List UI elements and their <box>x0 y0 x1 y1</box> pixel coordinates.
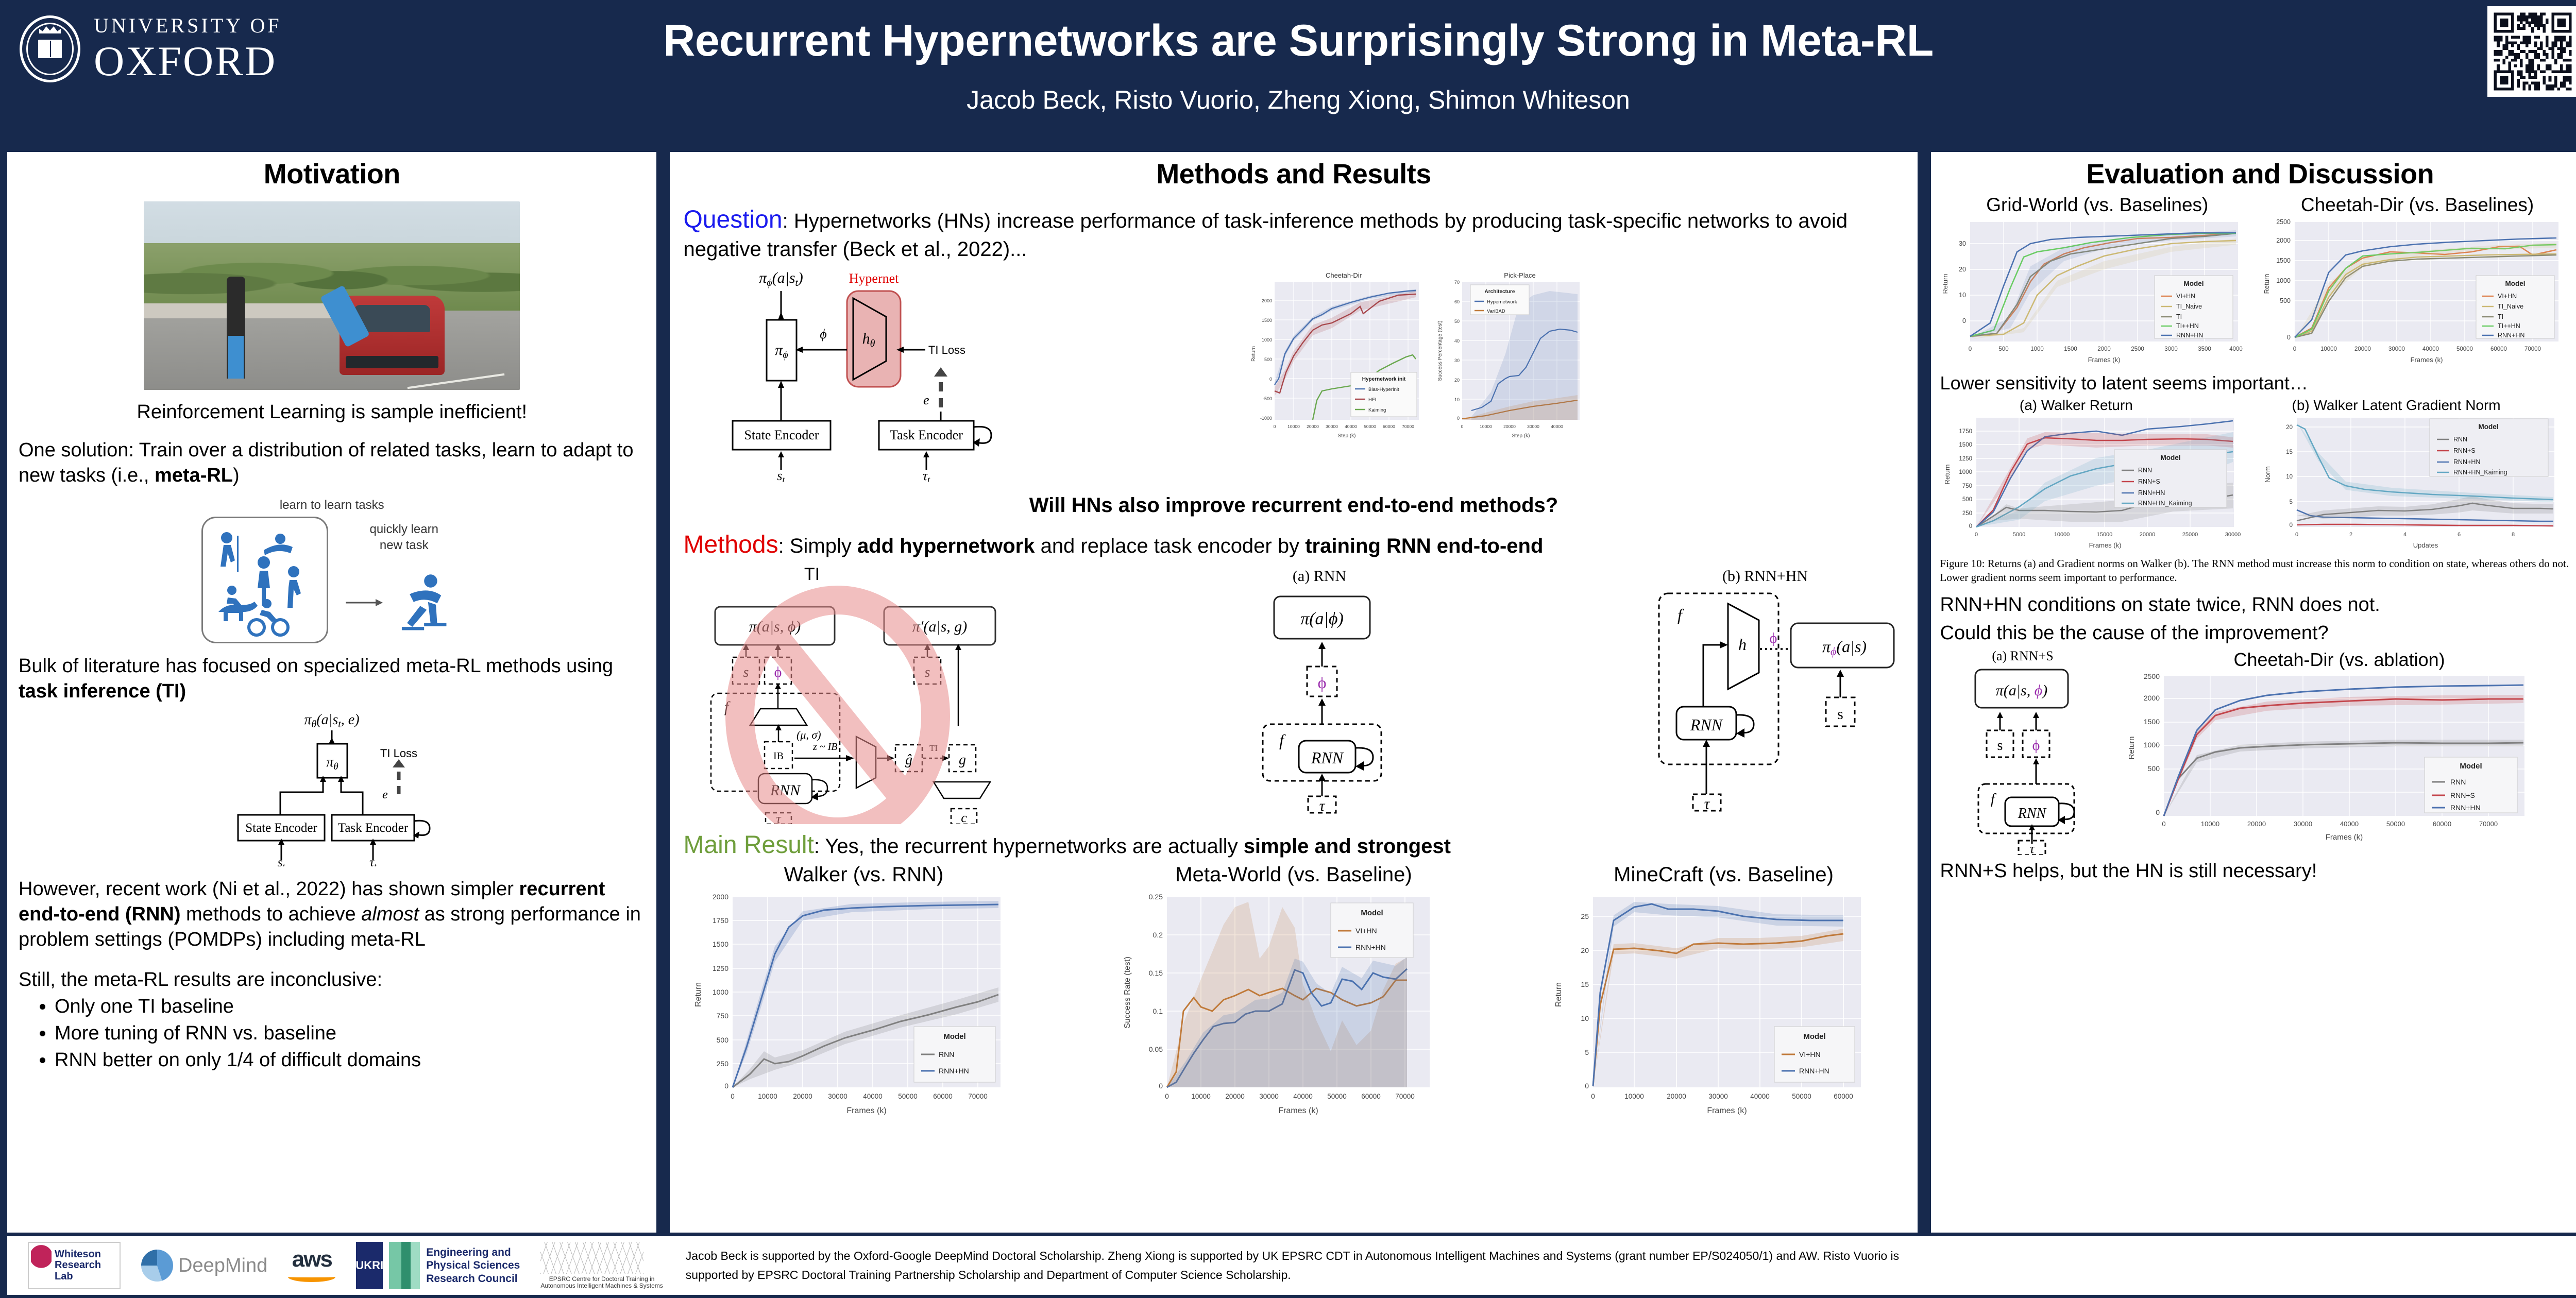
xtick: 30000 <box>1708 1092 1728 1100</box>
xtick: 50000 <box>1364 424 1377 429</box>
eval-chart-titles: Grid-World (vs. Baselines) Cheetah-Dir (… <box>1940 194 2576 216</box>
ti-architecture-diagram: πθ(a|st, e) πθ TI Loss e <box>167 712 497 866</box>
ytick: 0 <box>1159 1082 1163 1090</box>
chart-cheetah-dir-hyperinit: Cheetah-Dir <box>1245 269 1595 450</box>
para2-part-a: Bulk of literature has focused on specia… <box>19 655 613 677</box>
ytick: 250 <box>717 1060 729 1068</box>
aws-smile-icon <box>288 1272 335 1282</box>
hypernet-label: Hypernet <box>849 271 900 286</box>
chart-title: Meta-World (vs. Baseline) <box>1113 863 1474 886</box>
epsrc-l2: Physical Sciences <box>426 1259 520 1272</box>
ytick: 10 <box>1454 397 1460 402</box>
ytick: 0 <box>1962 317 1966 324</box>
evaluation-title: Evaluation and Discussion <box>1931 152 2576 190</box>
ukri-bars-icon <box>389 1242 420 1289</box>
chart-legend: Model RNN RNN+HN <box>914 1027 995 1082</box>
ytick: 500 <box>2147 764 2160 773</box>
ylabel: Success Percentage (test) <box>1437 321 1443 381</box>
discussion-line-2: Could this be the cause of the improveme… <box>1940 621 2576 646</box>
ytick: 1000 <box>1262 337 1272 343</box>
ytick: 20 <box>1454 378 1460 383</box>
motivation-para-4: Still, the meta-RL results are inconclus… <box>19 967 645 993</box>
ytick: 5 <box>1585 1048 1589 1056</box>
aims-sub2: Autonomous Intelligent Machines & System… <box>540 1283 663 1289</box>
photo-caption: Reinforcement Learning is sample ineffic… <box>19 401 645 423</box>
walker-chart-titles: (a) Walker Return (b) Walker Latent Grad… <box>1940 397 2576 414</box>
panel-methods-results: Methods and Results Question: Hypernetwo… <box>670 152 1917 1233</box>
legend-entry: TI++HN <box>2498 322 2520 330</box>
task-icons-group <box>203 518 327 642</box>
rnn-policy: π(a|ϕ) <box>1300 609 1344 628</box>
legend-entry: RNN+HN <box>2498 332 2524 339</box>
chart-title: MineCraft (vs. Baseline) <box>1544 863 1904 886</box>
ablation-row: (a) RNN+S π(a|s, ϕ) s ϕ f <box>1940 649 2576 858</box>
motivation-para-2: Bulk of literature has focused on specia… <box>19 654 645 705</box>
ytick: 1500 <box>2143 718 2159 726</box>
para3-part-a: However, recent work (Ni et al., 2022) h… <box>19 878 519 900</box>
rnn-diagram: (a) RNN π(a|ϕ) ϕ f RNN <box>1216 567 1433 816</box>
xtick: 50000 <box>1327 1092 1347 1100</box>
ytick: 5 <box>2289 499 2292 505</box>
ylabel: Return <box>1554 982 1563 1007</box>
ytick: 0 <box>2289 522 2292 528</box>
book-icon <box>38 40 62 58</box>
ytick: 20 <box>2286 424 2293 431</box>
xtick: 0 <box>1461 424 1464 429</box>
ytick: 0.2 <box>1153 931 1163 939</box>
ti-state-encoder: State Encoder <box>245 821 317 835</box>
main-result-charts: Walker (vs. RNN) <box>683 863 1904 1129</box>
eval-chart-row: 30 20 10 0 0 500 1000 1500 2000 <box>1940 218 2576 367</box>
xtick: 0 <box>2162 820 2165 828</box>
question-keyword: Question <box>683 206 782 233</box>
ytick: 2500 <box>2143 672 2159 680</box>
xtick: 1000 <box>2030 346 2044 352</box>
rnn-box: RNN <box>1311 748 1344 767</box>
motivation-para-1: One solution: Train over a distribution … <box>19 438 645 489</box>
whirl-l1: Whiteson <box>55 1249 101 1260</box>
ytick: 0 <box>1457 416 1460 421</box>
xtick: 30000 <box>2293 820 2312 828</box>
xtick: 20000 <box>793 1092 813 1100</box>
xtick: 8 <box>2511 532 2514 538</box>
ti-input-state: st <box>278 856 286 866</box>
whirl-l3: Lab <box>55 1271 101 1283</box>
main-result-keyword: Main Result <box>683 831 814 859</box>
meta-rl-task-diagram: learn to learn tasks <box>177 498 486 643</box>
xtick: 0 <box>1968 346 1971 352</box>
latent-sensitivity-line: Lower sensitivity to latent seems import… <box>1940 372 2576 394</box>
xtick: 3000 <box>2164 346 2178 352</box>
methods-part-c: and replace task encoder by <box>1035 535 1305 557</box>
xtick: 60000 <box>2432 820 2451 828</box>
hn-edge-e: e <box>923 392 929 407</box>
ytick: 1500 <box>1262 318 1272 323</box>
ytick: 0 <box>1585 1082 1589 1090</box>
legend-title: Architecture <box>1485 289 1515 295</box>
methods-keyword: Methods <box>683 531 778 558</box>
legend-title: Model <box>2505 280 2525 287</box>
epsrc-l1: Engineering and <box>426 1246 520 1259</box>
ytick: 40 <box>1454 338 1460 344</box>
legend-entry: RNN+HN_Kaiming <box>2453 469 2507 476</box>
hn-ti-loss-label: TI Loss <box>928 344 965 356</box>
deepmind-swirl-icon <box>141 1250 173 1282</box>
ytick: 1000 <box>713 988 728 996</box>
legend-entry: TI <box>2498 313 2503 320</box>
legend-entry: RNN+HN <box>2453 458 2480 466</box>
task-distribution-box <box>201 517 328 643</box>
xtick: 6 <box>2457 532 2460 538</box>
methods-paragraph: Methods: Simply add hypernetwork and rep… <box>683 528 1904 561</box>
rnns-rnn: RNN <box>2017 806 2046 822</box>
ytick: 2000 <box>713 893 728 901</box>
ti-edge-e: e <box>382 788 388 801</box>
arrow-right-icon <box>346 597 383 608</box>
legend-entry: RNN+HN <box>939 1067 969 1075</box>
xtick: 40000 <box>1293 1092 1313 1100</box>
chart-legend: Hypernetwork init Bias-HyperInit HFI Kai… <box>1351 372 1417 417</box>
hypernet-architecture-diagram: πϕ(a|st) Hypernet πϕ hθ ϕ TI Loss <box>683 266 1245 485</box>
aims-network-icon <box>540 1242 643 1274</box>
ytick: -1000 <box>1260 416 1272 421</box>
xtick: 40000 <box>1551 424 1564 429</box>
xtick: 40000 <box>2422 346 2439 352</box>
ytick: 0 <box>2156 808 2160 816</box>
rnn-f: f <box>1279 731 1286 749</box>
legend-entry: Bias-HyperInit <box>1368 387 1399 392</box>
xtick: 70000 <box>1395 1092 1415 1100</box>
ti-crossed-g: g <box>959 752 966 768</box>
legend-entry: RNN <box>2138 467 2152 474</box>
methods-bold-2: training RNN end-to-end <box>1305 535 1543 557</box>
chart-legend: Model VI+HN RNN+HN <box>1331 903 1413 958</box>
rnns-s: s <box>1997 738 2003 754</box>
xlabel: Frames (k) <box>2088 356 2120 364</box>
xlabel: Frames (k) <box>2089 541 2121 549</box>
xtick: 10000 <box>758 1092 778 1100</box>
xtick: 10000 <box>1624 1092 1644 1100</box>
motivation-para-3: However, recent work (Ni et al., 2022) h… <box>19 877 645 953</box>
methods-title: Methods and Results <box>670 152 1917 190</box>
xtick: 500 <box>1998 346 2008 352</box>
chart-pick-place: Pick-Place <box>1437 271 1580 439</box>
ytick: 2000 <box>2276 237 2291 244</box>
main-result-bold: simple and strongest <box>1244 835 1451 858</box>
ytick: 500 <box>2280 297 2291 304</box>
title-block: Recurrent Hypernetworks are Surprisingly… <box>0 0 2576 115</box>
skater-icon <box>390 567 462 639</box>
rnnhn-diagram: (b) RNN+HN f h ϕ πϕ(a|s) <box>1636 567 1904 816</box>
ack-line1: Jacob Beck is supported by the Oxford-Go… <box>686 1246 1899 1266</box>
quickly-learn-label: quickly learn new task <box>346 521 462 553</box>
legend-entry: RNN <box>2450 778 2466 786</box>
ukri-box: UKRI <box>356 1242 383 1289</box>
learn-to-learn-label: learn to learn tasks <box>177 498 486 513</box>
legend-entry: RNN+HN <box>1799 1067 1829 1075</box>
ytick: 750 <box>1962 483 1972 489</box>
legend-entry: Kaiming <box>1368 407 1386 413</box>
para1-part-a: One solution: Train over a distribution … <box>19 439 633 486</box>
xtick: 10000 <box>1191 1092 1211 1100</box>
ytick: 250 <box>1962 510 1972 517</box>
top-chart-pair: Cheetah-Dir <box>1245 269 1595 450</box>
chart-walker-vs-rnn: Walker (vs. RNN) <box>683 863 1044 1129</box>
ti-crossed-ib: IB <box>773 750 784 762</box>
poster-columns: Motivation Reinforcement Learning is sam… <box>0 152 2576 1233</box>
legend-entry: Hypernetwork <box>1487 299 1517 305</box>
xtick: 15000 <box>2096 532 2112 538</box>
main-result-paragraph: Main Result: Yes, the recurrent hypernet… <box>683 829 1904 861</box>
xtick: 2000 <box>2097 346 2111 352</box>
ytick: 0 <box>1969 523 1972 530</box>
xtick: 0 <box>1974 532 1977 538</box>
legend-entry: RNN+HN_Kaiming <box>2138 500 2192 507</box>
ylabel: Return <box>2127 737 2136 760</box>
rnn-phi: ϕ <box>1318 673 1327 692</box>
legend-entry: RNN <box>2453 436 2467 443</box>
methods-bold-1: add hypernetwork <box>857 535 1035 557</box>
legend-title: Model <box>2460 762 2482 771</box>
ylabel: Success Rate (test) <box>1123 957 1132 1029</box>
ylabel: Return <box>1251 346 1257 362</box>
ytick: 1000 <box>2143 741 2159 749</box>
ack-line2: supported by EPSRC Doctoral Training Par… <box>686 1266 1899 1285</box>
chart-title: (a) Walker Return <box>2020 397 2133 414</box>
xtick: 20000 <box>1504 424 1516 429</box>
xlabel: Frames (k) <box>1278 1106 1318 1115</box>
xtick: 40000 <box>863 1092 883 1100</box>
whirl-l2: Research <box>55 1260 101 1271</box>
legend-entry: VI+HN <box>1355 927 1377 935</box>
legend-entry: RNN <box>939 1050 954 1058</box>
legend-entry: RNN+S <box>2453 447 2476 454</box>
chart-legend: Model RNN RNN+S RNN+HN <box>2425 757 2517 813</box>
chart-title: Walker (vs. RNN) <box>683 863 1044 886</box>
ytick: 70 <box>1454 280 1460 285</box>
xtick: 70000 <box>2524 346 2541 352</box>
legend-entry: RNN+S <box>2450 791 2475 799</box>
ytick: 1000 <box>2276 277 2291 284</box>
deepmind-wordmark: DeepMind <box>178 1255 267 1277</box>
xtick: 4 <box>2403 532 2406 538</box>
subquestion-line: Will HNs also improve recurrent end-to-e… <box>683 494 1904 517</box>
rnns-policy: π(a|s, ϕ) <box>1995 682 2047 699</box>
whirl-mark-icon <box>31 1245 52 1286</box>
legend-entry: RNN+HN <box>2176 332 2203 339</box>
aims-subtitle: EPSRC Centre for Doctoral Training in Au… <box>540 1276 663 1289</box>
chart-legend: Architecture Hypernetwork VariBAD <box>1470 285 1529 315</box>
legend-entry: RNN+S <box>2138 478 2160 485</box>
rnnhn-f: f <box>1677 605 1684 624</box>
poster-root: UNIVERSITY OF OXFORD Recurrent Hypernetw… <box>0 0 2576 1298</box>
legend-entry: TI++HN <box>2176 322 2199 330</box>
hn-state-encoder: State Encoder <box>744 428 819 442</box>
ytick: -500 <box>1263 396 1272 401</box>
xtick: 60000 <box>1383 424 1396 429</box>
xtick: 10000 <box>1288 424 1300 429</box>
logo-deepmind: DeepMind <box>141 1250 267 1282</box>
epsrc-l3: Research Council <box>426 1272 520 1285</box>
legend-title: Model <box>1361 909 1383 917</box>
question-paragraph: Question: Hypernetworks (HNs) increase p… <box>683 203 1904 263</box>
xtick: 20000 <box>1667 1092 1686 1100</box>
list-item: More tuning of RNN vs. baseline <box>55 1020 645 1046</box>
legend-title: Model <box>2478 423 2498 431</box>
discussion-line-1: RNN+HN conditions on state twice, RNN do… <box>1940 592 2576 618</box>
xlabel: Frames (k) <box>2325 833 2363 842</box>
xtick: 0 <box>1274 424 1276 429</box>
ti-crossed-z: z ~ IB <box>812 741 837 753</box>
whirl-wordmark: Whiteson Research Lab <box>55 1249 101 1283</box>
hn-input-state: st <box>777 468 786 482</box>
legend-entry: TI_Naive <box>2176 303 2202 310</box>
xtick: 50000 <box>899 1092 918 1100</box>
ytick: 15 <box>1581 980 1589 988</box>
xtick: 4000 <box>2229 346 2243 352</box>
ytick: 0 <box>725 1082 729 1090</box>
ytick: 2500 <box>2276 218 2291 226</box>
xtick: 20000 <box>2354 346 2371 352</box>
ytick: 15 <box>2286 449 2293 455</box>
quickly-learn-l2: new task <box>346 537 462 553</box>
rnn-tau: τ <box>1319 797 1326 814</box>
question-body: : Hypernetworks (HNs) increase performan… <box>683 210 1848 261</box>
xtick: 5000 <box>2012 532 2025 538</box>
legend-entry: VariBAD <box>1487 309 1505 314</box>
chart-walker-gradient-norm: 20 15 10 5 0 0 2 4 6 8 <box>2261 415 2576 554</box>
ytick: 0.1 <box>1153 1007 1163 1015</box>
qr-code-icon[interactable] <box>2487 6 2576 97</box>
ytick: 500 <box>717 1036 729 1044</box>
logo-ukri-epsrc: UKRI Engineering and Physical Sciences R… <box>356 1242 520 1289</box>
hn-policy-label: πϕ(a|st) <box>759 269 804 288</box>
ytick: 1750 <box>1959 429 1972 435</box>
ytick: 60 <box>1454 299 1460 304</box>
chart-title: Grid-World (vs. Baselines) <box>1986 194 2208 216</box>
ytick: 1500 <box>713 940 728 948</box>
chart-legend: Model VI+HN RNN+HN <box>1774 1027 1855 1082</box>
rnns-phi: ϕ <box>2032 738 2040 754</box>
xtick: 30000 <box>1528 424 1540 429</box>
architecture-diagram-row: TI π(a|s, ϕ) π′(a|s, g) s ϕ s <box>683 567 1904 827</box>
ytick: 50 <box>1454 319 1460 324</box>
xlabel: Updates <box>2413 541 2438 549</box>
legend-entry: TI_Naive <box>2498 303 2523 310</box>
legend-entry: RNN+HN <box>2450 804 2481 812</box>
ti-crossed-diagram: TI π(a|s, ϕ) π′(a|s, g) s ϕ s <box>683 567 1013 827</box>
para1-bold: meta-RL <box>155 465 233 486</box>
ytick: 0.25 <box>1149 893 1163 901</box>
list-item: RNN better on only 1/4 of difficult doma… <box>55 1047 645 1073</box>
rnnhn-phi: ϕ <box>1769 630 1777 646</box>
legend-title: Model <box>944 1032 966 1041</box>
para2-bold: task inference (TI) <box>19 680 186 702</box>
xtick: 10000 <box>2054 532 2070 538</box>
sponsor-logos: Whiteson Research Lab DeepMind aws UKRI … <box>7 1242 663 1289</box>
ti-crossed-c: c <box>961 810 968 824</box>
xtick: 10000 <box>2320 346 2337 352</box>
methods-part-a: : Simply <box>778 535 857 557</box>
rnns-tau: τ <box>2029 841 2035 855</box>
ytick: 2000 <box>1262 298 1272 303</box>
ti-loss-label: TI Loss <box>380 747 417 760</box>
xtick: 30000 <box>1326 424 1338 429</box>
figure-10-caption: Figure 10: Returns (a) and Gradient norm… <box>1940 557 2576 585</box>
chart-title: Cheetah-Dir (vs. ablation) <box>2115 649 2564 671</box>
author-list: Jacob Beck, Risto Vuorio, Zheng Xiong, S… <box>0 85 2576 115</box>
xtick: 40000 <box>1345 424 1358 429</box>
list-item: Only one TI baseline <box>55 994 645 1019</box>
xtick: 70000 <box>2479 820 2497 828</box>
logo-aws: aws <box>288 1249 335 1282</box>
xtick: 30000 <box>2388 346 2405 352</box>
legend-entry: RNN+HN <box>2138 489 2165 497</box>
xtick: 20000 <box>1307 424 1319 429</box>
legend-entry: TI <box>2176 313 2182 320</box>
ytick: 1000 <box>1959 469 1972 475</box>
xtick: 0 <box>731 1092 735 1100</box>
ytick: 30 <box>1959 240 1966 247</box>
ytick: 1750 <box>713 916 728 925</box>
panel-evaluation-discussion: Evaluation and Discussion Grid-World (vs… <box>1931 152 2576 1233</box>
ytick: 500 <box>1962 497 1972 503</box>
chart-cheetah-dir-baselines: 2500 2000 1500 1000 500 0 0 10000 20000 <box>2261 218 2576 367</box>
chart-cheetah-dir-ablation: Cheetah-Dir (vs. ablation) <box>2115 649 2564 855</box>
aws-wordmark: aws <box>288 1249 335 1270</box>
chart-title: Cheetah-Dir (vs. Baselines) <box>2301 194 2534 216</box>
prohibited-overlay-icon <box>740 600 936 824</box>
ytick: 2000 <box>2143 694 2159 702</box>
panel-motivation: Motivation Reinforcement Learning is sam… <box>7 152 656 1233</box>
xtick: 60000 <box>1834 1092 1853 1100</box>
xtick: 20000 <box>2139 532 2155 538</box>
xtick: 60000 <box>2490 346 2507 352</box>
para3-italic: almost <box>361 903 419 925</box>
xtick: 25000 <box>2182 532 2198 538</box>
rnnhn-caption: (b) RNN+HN <box>1722 568 1807 585</box>
xtick: 2500 <box>2131 346 2144 352</box>
poster-header: UNIVERSITY OF OXFORD Recurrent Hypernetw… <box>0 0 2576 152</box>
hn-task-encoder: Task Encoder <box>890 428 963 442</box>
epsrc-wordmark: Engineering and Physical Sciences Resear… <box>426 1246 520 1285</box>
logo-aims: EPSRC Centre for Doctoral Training in Au… <box>540 1242 663 1289</box>
ytick: 1250 <box>1959 456 1972 462</box>
xtick: 60000 <box>1361 1092 1381 1100</box>
xtick: 0 <box>1165 1092 1169 1100</box>
logo-whirl: Whiteson Research Lab <box>28 1242 121 1289</box>
ytick: 0 <box>1269 377 1272 382</box>
ti-input-tau: τt <box>369 856 377 866</box>
chart-meta-world: Meta-World (vs. Baseline) <box>1113 863 1474 1129</box>
hn-input-tau: τt <box>923 468 930 482</box>
ylabel: Return <box>1943 464 1951 484</box>
motivation-title: Motivation <box>7 152 656 190</box>
ytick: 750 <box>717 1012 729 1020</box>
chart-grid-world: 30 20 10 0 0 500 1000 1500 2000 <box>1940 218 2256 367</box>
ytick: 0.15 <box>1149 969 1163 977</box>
xtick: 30000 <box>1259 1092 1279 1100</box>
pedestrian-dummy-icon <box>227 277 246 379</box>
legend-title: Model <box>2160 454 2180 462</box>
chart-title: Cheetah-Dir <box>1326 271 1362 279</box>
xtick: 2 <box>2349 532 2352 538</box>
ytick: 10 <box>1959 292 1966 299</box>
ti-policy-label: πθ(a|st, e) <box>304 712 360 730</box>
chart-legend: Model VI+HN TI_Naive TI TI++HN RNN+HN <box>2155 276 2233 339</box>
legend-entry: VI+HN <box>2498 293 2517 300</box>
legend-entry: RNN+HN <box>1355 943 1386 951</box>
